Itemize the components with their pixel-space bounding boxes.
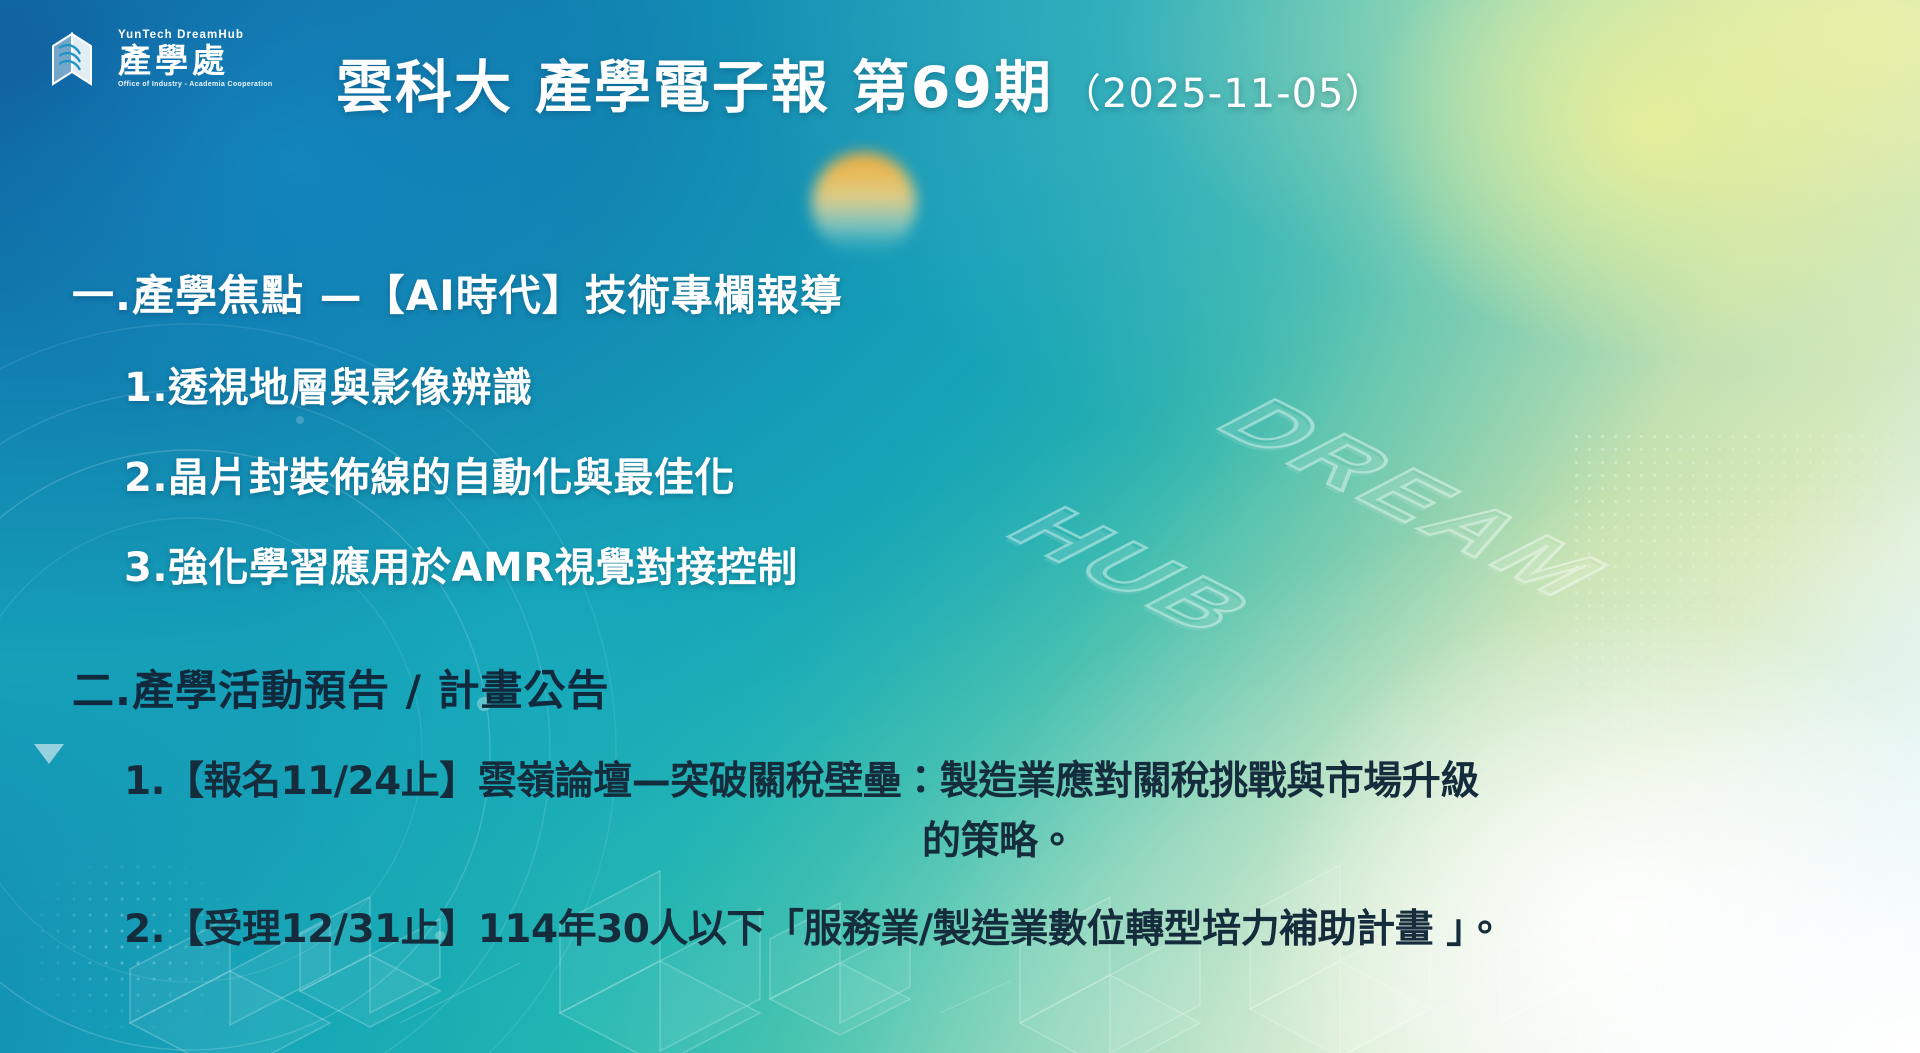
page-title-main: 雲科大 產學電子報 第69期 xyxy=(336,42,1053,124)
page-title-date: （2025-11-05） xyxy=(1061,61,1385,119)
sun-circle-icon xyxy=(812,152,916,256)
section-heading-2: 二.產學活動預告 / 計畫公告 xyxy=(0,657,1920,718)
list-item[interactable]: 3.強化學習應用於AMR視覺對接控制 xyxy=(0,535,1920,593)
list-item[interactable]: 2.【受理12/31止】114年30人以下「服務業/製造業數位轉型培力補助計畫 … xyxy=(0,898,1920,954)
logo-chinese: 產學處 xyxy=(118,44,273,77)
section-event-announcements: 二.產學活動預告 / 計畫公告 1.【報名11/24止】雲嶺論壇—突破關稅壁壘：… xyxy=(0,657,1920,954)
logo-english-bottom: Office of Industry - Academia Cooperatio… xyxy=(118,81,273,88)
list-item[interactable]: 1.透視地層與影像辨識 xyxy=(0,355,1920,413)
logo-text-block: YunTech DreamHub 產學處 Office of Industry … xyxy=(118,30,273,89)
list-item[interactable]: 1.【報名11/24止】雲嶺論壇—突破關稅壁壘：製造業應對關稅挑戰與市場升級 的… xyxy=(0,750,1920,866)
page-title: 雲科大 產學電子報 第69期 （2025-11-05） xyxy=(336,42,1385,124)
list-item-line1: 1.【報名11/24止】雲嶺論壇—突破關稅壁壘：製造業應對關稅挑戰與市場升級 xyxy=(124,750,1874,806)
section-divider-space xyxy=(0,599,1920,657)
list-item-line1: 2.【受理12/31止】114年30人以下「服務業/製造業數位轉型培力補助計畫 … xyxy=(124,898,1874,954)
newsletter-content: 一.產學焦點 —【AI時代】技術專欄報導 1.透視地層與影像辨識 2.晶片封裝佈… xyxy=(0,262,1920,960)
list-item[interactable]: 2.晶片封裝佈線的自動化與最佳化 xyxy=(0,445,1920,503)
site-logo[interactable]: YunTech DreamHub 產學處 Office of Industry … xyxy=(46,28,273,90)
dreamhub-book-logo-icon xyxy=(46,28,104,90)
logo-english-top: YunTech DreamHub xyxy=(118,30,273,42)
list-item-line2: 的策略。 xyxy=(124,810,1874,866)
newsletter-banner: DREAM HUB xyxy=(0,0,1920,1053)
section-heading-1: 一.產學焦點 —【AI時代】技術專欄報導 xyxy=(0,262,1920,323)
section-industry-focus: 一.產學焦點 —【AI時代】技術專欄報導 1.透視地層與影像辨識 2.晶片封裝佈… xyxy=(0,262,1920,593)
